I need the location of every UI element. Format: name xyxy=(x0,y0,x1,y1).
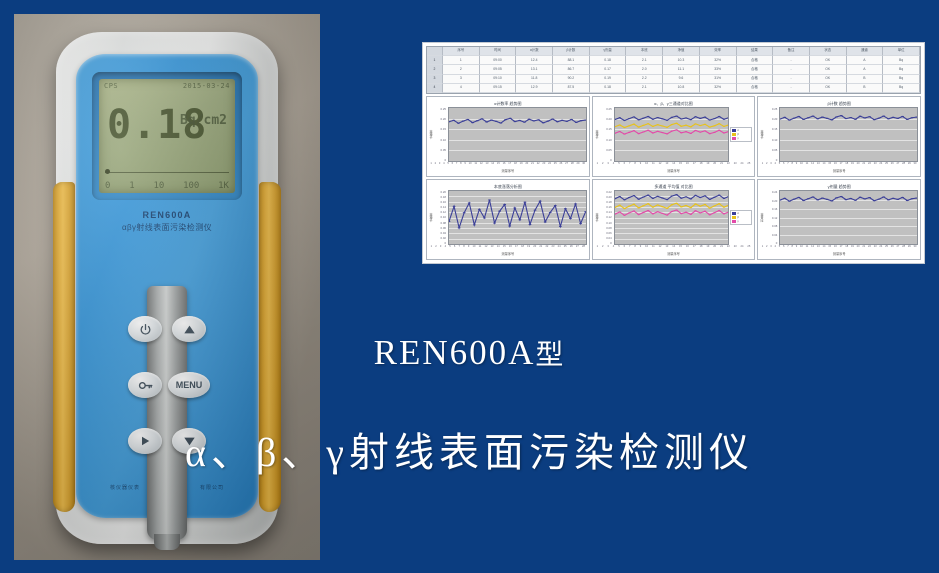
chart-data-point xyxy=(498,211,501,212)
chart-data-point xyxy=(812,196,815,197)
chart-y-tick: 0.15 xyxy=(601,127,612,131)
chart-y-tick: 0.25 xyxy=(766,107,777,111)
chart-data-point xyxy=(651,213,654,214)
chart-panel[interactable]: α计数率 趋势图计数率0.250.200.150.100.05012345678… xyxy=(426,96,590,177)
chart-data-point xyxy=(854,119,857,120)
chart-data-point xyxy=(473,224,476,225)
spreadsheet-cell[interactable]: A xyxy=(847,56,884,65)
chart-legend-entry: α xyxy=(732,129,750,132)
chart-data-point xyxy=(539,200,542,201)
chart-data-point xyxy=(632,124,635,125)
spreadsheet-column-header[interactable]: 序号 xyxy=(443,47,480,56)
data-spreadsheet: 序号时间α计数β计数γ剂量本底净值效率结果备注状态通道单位1109:0012.4… xyxy=(426,46,921,94)
spreadsheet-cell[interactable]: 0.17 xyxy=(590,65,627,74)
lcd-bezel: CPS 2015-03-24 0.18 Bq/cm2 0 1 10 100 1K xyxy=(92,72,242,200)
chart-y-tick: 0.06 xyxy=(601,231,612,235)
spreadsheet-cell[interactable]: 4 xyxy=(443,84,480,93)
chart-data-point xyxy=(680,213,683,214)
chart-panel[interactable]: γ剂量 趋势图剂量率0.240.200.160.120.080.04012345… xyxy=(757,179,921,260)
chart-data-point xyxy=(618,124,621,125)
chart-data-point xyxy=(680,132,683,133)
chart-title: α计数率 趋势图 xyxy=(429,100,587,107)
chart-data-point xyxy=(699,206,702,207)
chart-series-svg xyxy=(780,191,917,244)
chart-data-point xyxy=(883,115,886,116)
chart-legend: αβγ xyxy=(730,127,752,142)
chart-data-point xyxy=(694,130,697,131)
chart-data-point xyxy=(798,116,801,117)
spreadsheet-cell[interactable]: 12.4 xyxy=(516,56,553,65)
chart-y-tick: 0.14 xyxy=(601,210,612,214)
chart-data-point xyxy=(670,195,673,196)
chart-data-point xyxy=(618,205,621,206)
spreadsheet-column-header[interactable]: 状态 xyxy=(810,47,847,56)
chart-data-point xyxy=(680,118,683,119)
chart-data-point xyxy=(873,200,876,201)
chart-legend-entry: β xyxy=(732,216,750,219)
chart-legend-swatch xyxy=(732,216,736,219)
chart-y-ticks: 0.250.200.150.100.050 xyxy=(435,107,447,162)
lcd-scale-tick: 10 xyxy=(153,181,164,191)
spreadsheet-cell[interactable]: 31% xyxy=(700,75,737,84)
spreadsheet-cell[interactable]: 09:05 xyxy=(480,65,517,74)
chart-data-point xyxy=(661,213,664,214)
chart-data-point xyxy=(897,118,900,119)
chart-legend-swatch xyxy=(732,129,736,132)
chart-data-point xyxy=(718,195,721,196)
chart-data-point xyxy=(718,210,721,211)
spreadsheet-cell[interactable]: 2.1 xyxy=(626,84,663,93)
chart-y-tick: 0.20 xyxy=(601,117,612,121)
chart-x-axis-label: 测量序号 xyxy=(429,168,587,174)
chart-body: 计数率0.250.200.150.100.050αβγ xyxy=(595,107,753,162)
chart-data-point xyxy=(864,198,867,199)
chart-data-point xyxy=(854,200,857,201)
chart-body: 计数率0.220.200.180.160.140.120.100.080.060… xyxy=(595,190,753,245)
chart-data-point xyxy=(868,116,871,117)
spreadsheet-cell[interactable]: OK xyxy=(810,56,847,65)
chart-data-point xyxy=(618,131,621,132)
chart-data-point xyxy=(508,225,511,226)
spreadsheet-cell[interactable]: 90.2 xyxy=(553,75,590,84)
chart-data-point xyxy=(722,126,725,127)
chart-y-ticks: 0.240.200.160.120.080.040 xyxy=(766,190,778,245)
spreadsheet-cell[interactable]: OK xyxy=(810,65,847,74)
chart-data-point xyxy=(642,131,645,132)
chart-data-point xyxy=(675,203,678,204)
chart-data-point xyxy=(513,207,516,208)
chart-data-point xyxy=(689,119,692,120)
chart-series-line xyxy=(615,203,729,208)
chart-data-point xyxy=(906,200,909,201)
chart-data-point xyxy=(845,199,848,200)
chart-y-tick: 0.05 xyxy=(601,148,612,152)
chart-data-point xyxy=(499,122,502,123)
chart-data-point xyxy=(647,123,650,124)
chart-data-point xyxy=(817,199,820,200)
spreadsheet-cell[interactable]: - xyxy=(773,84,810,93)
chart-data-point xyxy=(675,209,678,210)
spreadsheet-cell[interactable]: 32% xyxy=(700,84,737,93)
chart-legend-swatch xyxy=(732,220,736,223)
chart-data-point xyxy=(793,118,796,119)
spreadsheet-column-header[interactable]: 时间 xyxy=(480,47,517,56)
chart-data-point xyxy=(579,223,582,224)
chart-data-point xyxy=(651,207,654,208)
chart-data-point xyxy=(651,198,654,199)
chart-data-point xyxy=(831,200,834,201)
chart-data-point xyxy=(807,117,810,118)
chart-data-point xyxy=(618,117,621,118)
chart-legend-label: β xyxy=(737,133,739,136)
chart-data-point xyxy=(518,219,521,220)
chart-y-tick: 0.08 xyxy=(766,224,777,228)
chart-data-point xyxy=(850,117,853,118)
spreadsheet-row[interactable]: 1109:0012.488.10.182.110.332%合格-OKABq xyxy=(427,56,920,65)
chart-data-point xyxy=(718,203,721,204)
chart-data-point xyxy=(623,215,626,216)
chart-data-point xyxy=(694,203,697,204)
lcd-scale-tick: 1 xyxy=(129,181,134,191)
chart-legend-entry: γ xyxy=(732,220,750,223)
chart-data-point xyxy=(642,196,645,197)
chart-legend-label: α xyxy=(737,212,739,215)
chart-data-point xyxy=(798,197,801,198)
spreadsheet-cell[interactable]: 10.3 xyxy=(663,56,700,65)
spreadsheet-row-header: 3 xyxy=(427,75,443,84)
chart-data-point xyxy=(554,205,557,206)
spreadsheet-cell[interactable]: 12.9 xyxy=(516,84,553,93)
chart-data-point xyxy=(569,218,572,219)
spreadsheet-cell[interactable]: - xyxy=(773,75,810,84)
chart-data-point xyxy=(528,119,531,120)
device-silkscreen: REN600A αβγ射线表面污染检测仪 xyxy=(76,210,258,233)
chart-data-point xyxy=(788,120,791,121)
chart-data-point xyxy=(694,210,697,211)
chart-data-point xyxy=(793,199,796,200)
spreadsheet-row[interactable]: 2209:0513.186.70.172.011.133%合格-OKABq xyxy=(427,65,920,74)
chart-y-tick: 0.12 xyxy=(766,216,777,220)
chart-legend-entry: β xyxy=(732,133,750,136)
manufacturer-text-right: 有限公司 xyxy=(200,484,224,491)
spreadsheet-cell[interactable]: 09:15 xyxy=(480,84,517,93)
chart-data-point xyxy=(670,131,673,132)
spreadsheet-column-header[interactable]: 本底 xyxy=(626,47,663,56)
chart-data-point xyxy=(523,202,526,203)
chart-data-point xyxy=(708,126,711,127)
chart-series-svg xyxy=(615,108,729,161)
chart-data-point xyxy=(821,117,824,118)
chart-data-point xyxy=(637,199,640,200)
chart-data-point xyxy=(462,121,465,122)
menu-label: MENU xyxy=(176,380,203,390)
spreadsheet-cell[interactable]: 合格 xyxy=(737,75,774,84)
chart-data-point xyxy=(534,209,537,210)
chart-data-point xyxy=(528,224,531,225)
chart-data-point xyxy=(523,122,526,123)
chart-y-axis-label: 计数率 xyxy=(429,107,434,162)
chart-series-line xyxy=(780,116,917,120)
chart-data-point xyxy=(689,214,692,215)
chart-data-point xyxy=(689,133,692,134)
chart-data-point xyxy=(666,120,669,121)
chart-data-point xyxy=(892,198,895,199)
chart-title: 多通道 平均值 对比图 xyxy=(595,183,753,190)
spreadsheet-column-header[interactable]: 单位 xyxy=(883,47,920,56)
spreadsheet-cell[interactable]: 10.8 xyxy=(663,84,700,93)
spreadsheet-cell[interactable]: Bq xyxy=(883,65,920,74)
software-screenshot-panel: 序号时间α计数β计数γ剂量本底净值效率结果备注状态通道单位1109:0012.4… xyxy=(422,42,925,264)
chart-data-point xyxy=(468,202,471,203)
spreadsheet-cell[interactable]: 13.1 xyxy=(516,65,553,74)
spreadsheet-column-header[interactable]: α计数 xyxy=(516,47,553,56)
spreadsheet-cell[interactable]: 88.1 xyxy=(553,56,590,65)
chart-data-point xyxy=(656,131,659,132)
chart-data-point xyxy=(675,194,678,195)
chart-data-point xyxy=(703,124,706,125)
chart-data-point xyxy=(718,116,721,117)
chart-y-tick: 0.16 xyxy=(601,205,612,209)
spreadsheet-cell[interactable]: OK xyxy=(810,75,847,84)
spreadsheet-cell[interactable]: 09:00 xyxy=(480,56,517,65)
chart-data-point xyxy=(684,131,687,132)
chart-data-point xyxy=(546,121,549,122)
chart-data-point xyxy=(632,116,635,117)
spreadsheet-cell[interactable]: 合格 xyxy=(737,84,774,93)
chart-data-point xyxy=(850,198,853,199)
chart-data-point xyxy=(661,197,664,198)
chart-data-point xyxy=(556,121,559,122)
chart-data-point xyxy=(684,212,687,213)
chart-data-point xyxy=(642,125,645,126)
chart-data-point xyxy=(864,117,867,118)
lcd-screen: CPS 2015-03-24 0.18 Bq/cm2 0 1 10 100 1K xyxy=(99,79,235,193)
spreadsheet-cell[interactable]: 11.1 xyxy=(663,65,700,74)
chart-legend-entry: γ xyxy=(732,137,750,140)
chart-data-point xyxy=(713,197,716,198)
spreadsheet-cell[interactable]: A xyxy=(847,65,884,74)
chart-y-tick: 0.15 xyxy=(435,127,446,131)
spreadsheet-cell[interactable]: 86.7 xyxy=(553,65,590,74)
chart-data-point xyxy=(911,198,914,199)
chart-y-tick: 0.18 xyxy=(435,195,446,199)
spreadsheet-cell[interactable]: OK xyxy=(810,84,847,93)
spreadsheet-cell[interactable]: 0.19 xyxy=(590,75,627,84)
chart-panel[interactable]: 本底涨落分析图计数率0.200.180.160.140.120.100.080.… xyxy=(426,179,590,260)
spreadsheet-cell[interactable]: 0.18 xyxy=(590,56,627,65)
chart-plot-area xyxy=(614,190,730,245)
chart-data-point xyxy=(628,206,631,207)
chart-body: 计数率0.200.180.160.140.120.100.080.060.040… xyxy=(429,190,587,245)
chart-data-point xyxy=(708,199,711,200)
chart-legend-label: β xyxy=(737,216,739,219)
chart-data-point xyxy=(689,198,692,199)
chart-data-point xyxy=(680,126,683,127)
chart-data-point xyxy=(911,117,914,118)
chart-data-point xyxy=(632,204,635,205)
chart-data-point xyxy=(542,122,545,123)
caption-model-line: REN600A型 xyxy=(0,333,939,373)
spreadsheet-cell[interactable]: Bq xyxy=(883,84,920,93)
chart-data-point xyxy=(623,133,626,134)
chart-y-ticks: 0.250.200.150.100.050 xyxy=(601,107,613,162)
chart-legend-entry: α xyxy=(732,212,750,215)
chart-data-point xyxy=(713,125,716,126)
chart-title: γ剂量 趋势图 xyxy=(760,183,918,190)
chart-data-point xyxy=(887,199,890,200)
chart-data-point xyxy=(651,119,654,120)
chart-data-point xyxy=(628,132,631,133)
chart-data-point xyxy=(802,200,805,201)
chart-data-point xyxy=(656,117,659,118)
chart-data-point xyxy=(642,205,645,206)
spreadsheet-cell[interactable]: 2.2 xyxy=(626,75,663,84)
chart-y-axis-label: 计数率 xyxy=(760,107,765,162)
spreadsheet-row-header: 1 xyxy=(427,56,443,65)
spreadsheet-cell[interactable]: B xyxy=(847,84,884,93)
chart-data-point xyxy=(504,119,507,120)
spreadsheet-cell[interactable]: - xyxy=(773,65,810,74)
chart-data-point xyxy=(784,198,787,199)
chart-panel[interactable]: 多通道 平均值 对比图计数率0.220.200.180.160.140.120.… xyxy=(592,179,756,260)
chart-panel[interactable]: β计数 趋势图计数率0.250.200.150.100.050123456789… xyxy=(757,96,921,177)
spreadsheet-cell[interactable]: 87.5 xyxy=(553,84,590,93)
chart-plot-area xyxy=(779,107,918,162)
chart-legend-swatch xyxy=(732,212,736,215)
spreadsheet-column-header[interactable]: 效率 xyxy=(700,47,737,56)
spreadsheet-cell[interactable]: Bq xyxy=(883,56,920,65)
spreadsheet-row[interactable]: 4409:1512.987.50.182.110.832%合格-OKBBq xyxy=(427,84,920,93)
chart-data-point xyxy=(722,213,725,214)
spreadsheet-column-header[interactable]: 净值 xyxy=(663,47,700,56)
chart-data-point xyxy=(684,205,687,206)
chart-y-tick: 0.20 xyxy=(435,190,446,194)
spreadsheet-column-header[interactable]: 通道 xyxy=(847,47,884,56)
chart-data-point xyxy=(549,212,552,213)
chart-data-point xyxy=(637,126,640,127)
chart-title: β计数 趋势图 xyxy=(760,100,918,107)
spreadsheet-column-header[interactable]: 备注 xyxy=(773,47,810,56)
spreadsheet-cell[interactable]: 2.0 xyxy=(626,65,663,74)
chart-series-line xyxy=(615,195,729,200)
chart-y-tick: 0.04 xyxy=(601,236,612,240)
chart-data-point xyxy=(831,119,834,120)
spreadsheet-cell[interactable]: 3 xyxy=(443,75,480,84)
spreadsheet-cell[interactable]: 1 xyxy=(443,56,480,65)
chart-body: 计数率0.250.200.150.100.050 xyxy=(760,107,918,162)
chart-data-point xyxy=(699,118,702,119)
menu-button[interactable]: MENU xyxy=(168,372,210,398)
chart-data-point xyxy=(584,211,586,212)
chart-data-point xyxy=(812,115,815,116)
spreadsheet-cell[interactable]: 33% xyxy=(700,65,737,74)
chart-x-axis-label: 测量序号 xyxy=(429,251,587,257)
chart-data-point xyxy=(551,118,554,119)
spreadsheet-column-header[interactable]: γ剂量 xyxy=(590,47,627,56)
chart-data-point xyxy=(887,118,890,119)
chart-y-tick: 0.04 xyxy=(766,233,777,237)
spreadsheet-cell[interactable]: 2 xyxy=(443,65,480,74)
chart-series-svg xyxy=(449,108,586,161)
spreadsheet-cell[interactable]: 合格 xyxy=(737,56,774,65)
chart-y-tick: 0.10 xyxy=(435,215,446,219)
chart-y-tick: 0.18 xyxy=(601,200,612,204)
chart-data-point xyxy=(703,195,706,196)
chart-y-tick: 0.16 xyxy=(766,207,777,211)
chart-data-point xyxy=(680,198,683,199)
spreadsheet-cell[interactable]: Bq xyxy=(883,75,920,84)
chart-data-point xyxy=(637,119,640,120)
caption-product-name: α、β、γ射线表面污染检测仪 xyxy=(0,420,939,478)
chart-y-tick: 0.05 xyxy=(435,148,446,152)
chart-data-point xyxy=(471,122,474,123)
spreadsheet-cell[interactable]: 32% xyxy=(700,56,737,65)
chart-data-point xyxy=(906,119,909,120)
chart-data-point xyxy=(788,201,791,202)
spreadsheet-column-header[interactable]: β计数 xyxy=(553,47,590,56)
chart-series-svg xyxy=(449,191,586,244)
chart-data-point xyxy=(897,199,900,200)
spreadsheet-cell[interactable]: B xyxy=(847,75,884,84)
chart-y-tick: 0.05 xyxy=(766,148,777,152)
spreadsheet-column-header[interactable]: 结果 xyxy=(737,47,774,56)
chart-panel[interactable]: α、β、γ三通道对比图计数率0.250.200.150.100.050αβγ12… xyxy=(592,96,756,177)
chart-data-point xyxy=(675,123,678,124)
spreadsheet-row[interactable]: 3309:1011.890.20.192.29.631%合格-OKBBq xyxy=(427,75,920,84)
spreadsheet-cell[interactable]: - xyxy=(773,56,810,65)
chart-data-point xyxy=(694,116,697,117)
chart-data-point xyxy=(873,119,876,120)
chart-data-point xyxy=(632,195,635,196)
spreadsheet-cell[interactable]: 2.1 xyxy=(626,56,663,65)
chart-data-point xyxy=(661,125,664,126)
chart-data-point xyxy=(466,119,469,120)
chart-y-ticks: 0.250.200.150.100.050 xyxy=(766,107,778,162)
chart-data-point xyxy=(713,205,716,206)
chart-series-line xyxy=(615,116,729,120)
chart-x-axis-label: 测量序号 xyxy=(760,251,918,257)
spreadsheet-cell[interactable]: 9.6 xyxy=(663,75,700,84)
chart-data-point xyxy=(661,206,664,207)
chart-data-point xyxy=(722,198,725,199)
chart-data-point xyxy=(565,121,568,122)
spreadsheet-cell[interactable]: 11.8 xyxy=(516,75,553,84)
chart-legend-label: α xyxy=(737,129,739,132)
spreadsheet-cell[interactable]: 合格 xyxy=(737,65,774,74)
chart-data-point xyxy=(628,125,631,126)
chart-data-point xyxy=(713,212,716,213)
chart-data-point xyxy=(835,197,838,198)
chart-y-tick: 0.10 xyxy=(435,138,446,142)
chart-data-point xyxy=(684,117,687,118)
chart-data-point xyxy=(483,217,486,218)
chart-data-point xyxy=(703,204,706,205)
spreadsheet-cell[interactable]: 09:10 xyxy=(480,75,517,84)
chart-data-point xyxy=(675,115,678,116)
chart-data-point xyxy=(647,203,650,204)
chart-data-point xyxy=(623,127,626,128)
chart-data-point xyxy=(694,123,697,124)
chart-data-point xyxy=(699,132,702,133)
chart-data-point xyxy=(618,211,621,212)
chart-series-line xyxy=(615,130,729,134)
chart-data-point xyxy=(699,197,702,198)
key-button[interactable] xyxy=(128,372,162,398)
chart-title: 本底涨落分析图 xyxy=(429,183,587,190)
spreadsheet-cell[interactable]: 0.18 xyxy=(590,84,627,93)
chart-data-point xyxy=(623,199,626,200)
chart-data-point xyxy=(840,196,843,197)
